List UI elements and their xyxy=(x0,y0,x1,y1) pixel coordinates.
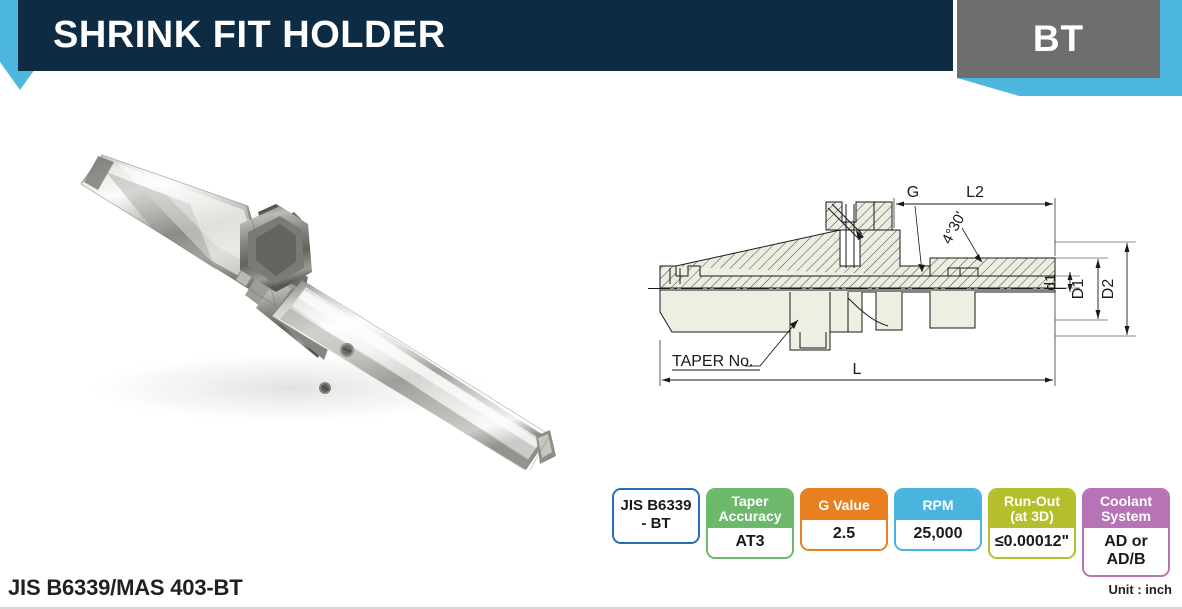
spec-badge-run-out-line2: (at 3D) xyxy=(991,509,1073,524)
dim-label-d2: D2 xyxy=(1100,279,1117,300)
spec-badge-rpm-value: 25,000 xyxy=(896,520,980,549)
spec-badge-g-value-line1: G Value xyxy=(803,498,885,513)
spec-badge-run-out: Run-Out (at 3D) ≤0.00012" xyxy=(988,488,1076,559)
spec-badge-rpm-head: RPM xyxy=(896,490,980,520)
spec-badge-coolant-system-line1: Coolant xyxy=(1085,494,1167,509)
dim-label-d1-small: d1 xyxy=(1042,274,1059,291)
unit-label: Unit : inch xyxy=(1108,582,1172,597)
spec-badge-standard-line1: JIS B6339 xyxy=(615,498,697,513)
spec-badge-g-value: G Value 2.5 xyxy=(800,488,888,551)
spec-badge-coolant-system-value: AD or AD/B xyxy=(1084,528,1168,575)
spec-badge-taper-accuracy-head: Taper Accuracy xyxy=(708,490,792,528)
spec-badge-taper-accuracy-value: AT3 xyxy=(708,528,792,557)
spec-badge-run-out-head: Run-Out (at 3D) xyxy=(990,490,1074,528)
page-title: SHRINK FIT HOLDER xyxy=(53,10,446,60)
standard-label: JIS B6339/MAS 403-BT xyxy=(8,575,242,601)
dim-label-l2: L2 xyxy=(966,184,984,201)
spec-badge-run-out-value: ≤0.00012" xyxy=(990,528,1074,557)
dim-label-angle: 4°30' xyxy=(939,209,970,247)
spec-badge-rpm: RPM 25,000 xyxy=(894,488,982,551)
spec-badge-taper-accuracy: Taper Accuracy AT3 xyxy=(706,488,794,559)
spec-badge-coolant-system-head: Coolant System xyxy=(1084,490,1168,528)
spec-badge-coolant-system-line2: System xyxy=(1085,509,1167,524)
spec-badge-taper-accuracy-line1: Taper xyxy=(709,494,791,509)
spec-badge-row: JIS B6339 - BT Taper Accuracy AT3 G Valu… xyxy=(612,488,1170,577)
spec-badge-g-value-value: 2.5 xyxy=(802,520,886,549)
spec-badge-standard-head: JIS B6339 xyxy=(614,490,698,515)
spec-badge-coolant-system: Coolant System AD or AD/B xyxy=(1082,488,1170,577)
dim-label-d1: D1 xyxy=(1070,279,1087,300)
dim-label-g: G xyxy=(907,184,919,201)
spec-badge-standard: JIS B6339 - BT xyxy=(612,488,700,544)
product-photo xyxy=(40,120,580,470)
spec-badge-standard-line2: - BT xyxy=(614,515,698,542)
catalog-page: SHRINK FIT HOLDER BT xyxy=(0,0,1182,609)
taper-type-badge-label: BT xyxy=(957,0,1160,78)
spec-badge-g-value-head: G Value xyxy=(802,490,886,520)
spec-badge-taper-accuracy-line2: Accuracy xyxy=(709,509,791,524)
drawing-caption: TAPER No. xyxy=(672,353,754,370)
dim-label-l: L xyxy=(853,361,862,378)
spec-badge-rpm-line1: RPM xyxy=(897,498,979,513)
spec-badge-run-out-line1: Run-Out xyxy=(991,494,1073,509)
technical-drawing: L L2 G 4°30' d1 D1 D2 TAPER No. xyxy=(630,180,1150,420)
